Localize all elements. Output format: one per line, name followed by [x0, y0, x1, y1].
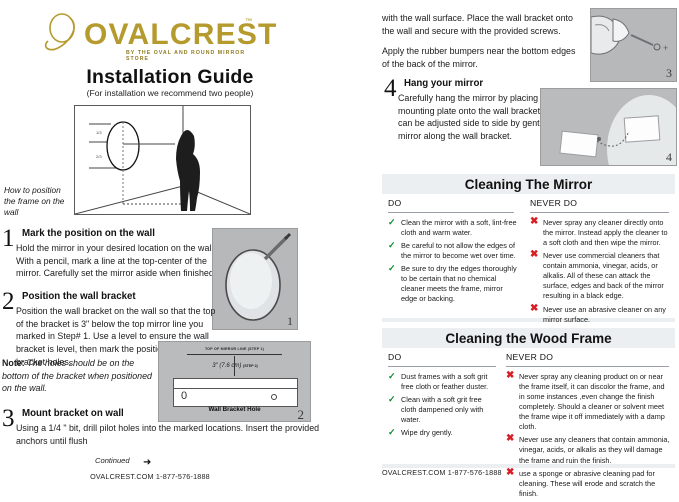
- screwdriver-hand-photo: +: [591, 9, 676, 81]
- cross-icon: ✖: [530, 217, 538, 227]
- list-item-text: Never use commercial cleaners that conta…: [543, 251, 664, 300]
- do-divider: [388, 366, 496, 367]
- list-item-text: Dust frames with a soft grit free cloth …: [401, 372, 488, 391]
- check-icon: ✓: [388, 428, 396, 437]
- photo-panel-3-number: 3: [666, 66, 672, 81]
- cleaning-frame-do-list: ✓Dust frames with a soft grit free cloth…: [388, 372, 498, 441]
- cleaning-mirror-title: Cleaning The Mirror: [382, 174, 675, 194]
- step-1-body: Hold the mirror in your desired location…: [2, 242, 221, 280]
- page-subtitle: (For installation we recommend two peopl…: [0, 88, 340, 98]
- list-item-text: Be careful to not allow the edges of the…: [401, 241, 516, 260]
- list-item: ✖Never spray any cleaner directly onto t…: [530, 218, 672, 248]
- bracket-panel-number: 2: [298, 407, 305, 423]
- step-2-note: Note: The holes should be on the bottom …: [2, 357, 152, 395]
- list-item: ✖Never use an abrasive cleaner on any mi…: [530, 305, 672, 325]
- cleaning-frame-never-list: ✖Never spray any cleaning product on or …: [506, 372, 672, 502]
- list-item: ✖Never use any cleaners that contain amm…: [506, 435, 672, 465]
- continued-paragraph-1: with the wall surface. Place the wall br…: [382, 12, 582, 38]
- logo-tagline: BY THE OVAL AND ROUND MIRROR STORE: [126, 50, 270, 62]
- continued-label: Continued: [95, 456, 130, 465]
- check-icon: ✓: [388, 395, 396, 404]
- step-2-heading: Position the wall bracket: [22, 291, 136, 302]
- list-item-text: Never use any cleaners that contain ammo…: [519, 435, 669, 464]
- list-item-text: Wipe dry gently.: [401, 428, 453, 437]
- list-item-text: use a sponge or abrasive cleaning pad fo…: [519, 469, 655, 498]
- step-2-note-text: The holes should be on the bottom of the…: [2, 358, 152, 393]
- cleaning-frame-never-header: NEVER DO: [506, 352, 553, 362]
- bracket-hole-right-icon: [271, 394, 277, 400]
- list-item-text: Be sure to dry the edges thoroughly to b…: [401, 264, 517, 303]
- cross-icon: ✖: [530, 250, 538, 260]
- photo-panel-3: + 3: [590, 8, 677, 82]
- list-item: ✓Wipe dry gently.: [388, 428, 498, 438]
- step-4-heading: Hang your mirror: [404, 78, 483, 89]
- list-item: ✖Never spray any cleaning product on or …: [506, 372, 672, 432]
- list-item: ✖use a sponge or abrasive cleaning pad f…: [506, 469, 672, 499]
- never-divider: [506, 366, 669, 367]
- step-3-heading: Mount bracket on wall: [22, 408, 124, 419]
- step-3-body: Using a 1/4 " bit, drill pilot holes int…: [2, 422, 346, 447]
- right-column: with the wall surface. Place the wall br…: [378, 0, 679, 489]
- cleaning-mirror-do-header: DO: [388, 198, 402, 208]
- cleaning-mirror-body: DO NEVER DO ✓Clean the mirror with a sof…: [382, 194, 675, 318]
- check-icon: ✓: [388, 264, 396, 273]
- list-item: ✓Be careful to not allow the edges of th…: [388, 241, 518, 261]
- bracket-hole-left-icon: 0: [181, 391, 187, 402]
- list-item-text: Never use an abrasive cleaner on any mir…: [543, 305, 666, 324]
- list-item: ✓Clean the mirror with a soft, lint-free…: [388, 218, 518, 238]
- bracket-dimension-step: (STEP 2): [243, 364, 258, 368]
- continued-paragraph-2: Apply the rubber bumpers near the bottom…: [382, 45, 582, 71]
- brand-logo: OVALCREST ™ BY THE OVAL AND ROUND MIRROR…: [40, 12, 270, 58]
- bracket-hole-label: Wall Bracket Hole: [159, 406, 310, 413]
- check-icon: ✓: [388, 241, 396, 250]
- bracket-measurement-diagram: TOP OF MIRROR LINE (STEP 1) .3" (7.6 cm)…: [158, 341, 311, 422]
- section-cleaning-mirror: Cleaning The Mirror DO NEVER DO ✓Clean t…: [382, 174, 675, 322]
- room-position-diagram: 1/3 2/3: [74, 105, 251, 215]
- cleaning-frame-do-header: DO: [388, 352, 402, 362]
- cross-icon: ✖: [506, 434, 514, 444]
- cross-icon: ✖: [530, 304, 538, 314]
- list-item: ✓Clean with a soft grit free cloth dampe…: [388, 395, 498, 425]
- left-column: OVALCREST ™ BY THE OVAL AND ROUND MIRROR…: [0, 0, 372, 489]
- list-item: ✓Dust frames with a soft grit free cloth…: [388, 372, 498, 392]
- bracket-dimension-label: .3" (7.6 cm) (STEP 2): [159, 363, 310, 369]
- svg-text:1/3: 1/3: [96, 130, 102, 135]
- do-divider: [388, 212, 514, 213]
- svg-text:2/3: 2/3: [96, 154, 102, 159]
- list-item-text: Clean the mirror with a soft, lint-free …: [401, 218, 517, 237]
- list-item-text: Clean with a soft grit free cloth dampen…: [401, 395, 483, 424]
- list-item: ✖Never use commercial cleaners that cont…: [530, 251, 672, 301]
- step-1-heading: Mark the position on the wall: [22, 228, 155, 239]
- bracket-lower-bar: [173, 388, 298, 407]
- list-item-text: Never spray any cleaner directly onto th…: [543, 218, 668, 247]
- list-item: ✓Be sure to dry the edges thoroughly to …: [388, 264, 518, 304]
- oval-monogram-icon: [40, 12, 88, 56]
- cleaning-frame-body: DO NEVER DO ✓Dust frames with a soft gri…: [382, 348, 675, 464]
- footer-right: OVALCREST.COM 1-877-576-1888: [382, 468, 502, 477]
- photo-panel-4: 4: [540, 88, 677, 166]
- diagram-caption: How to position the frame on the wall: [4, 185, 74, 219]
- mirror-pencil-photo: [213, 229, 297, 329]
- cross-icon: ✖: [506, 371, 514, 381]
- photo-panel-1: 1: [212, 228, 298, 330]
- mounting-plate-photo: [541, 89, 676, 165]
- list-item-text: Never spray any cleaning product on or n…: [519, 372, 665, 431]
- section-cleaning-frame: Cleaning the Wood Frame DO NEVER DO ✓Dus…: [382, 328, 675, 468]
- cleaning-mirror-do-list: ✓Clean the mirror with a soft, lint-free…: [388, 218, 518, 308]
- check-icon: ✓: [388, 218, 396, 227]
- continued-arrow-icon: ➜: [143, 457, 151, 468]
- never-divider: [530, 212, 669, 213]
- bracket-dimension-value: 3" (7.6 cm): [212, 363, 241, 369]
- room-diagram-svg: 1/3 2/3: [75, 106, 250, 214]
- check-icon: ✓: [388, 372, 396, 381]
- cleaning-frame-title: Cleaning the Wood Frame: [382, 328, 675, 348]
- photo-panel-1-number: 1: [287, 314, 293, 329]
- footer-left: OVALCREST.COM 1-877-576-1888: [0, 472, 300, 481]
- page-title: Installation Guide: [0, 66, 340, 89]
- bracket-mirror-line: [187, 354, 282, 355]
- step-2-note-label: Note:: [2, 358, 25, 368]
- svg-text:+: +: [663, 43, 668, 53]
- cleaning-mirror-never-header: NEVER DO: [530, 198, 577, 208]
- document-page: OVALCREST ™ BY THE OVAL AND ROUND MIRROR…: [0, 0, 679, 489]
- cross-icon: ✖: [506, 468, 514, 478]
- photo-panel-4-number: 4: [666, 150, 672, 165]
- logo-trademark: ™: [245, 18, 252, 25]
- cleaning-mirror-never-list: ✖Never spray any cleaner directly onto t…: [530, 218, 672, 328]
- bracket-top-label: TOP OF MIRROR LINE (STEP 1): [159, 347, 310, 351]
